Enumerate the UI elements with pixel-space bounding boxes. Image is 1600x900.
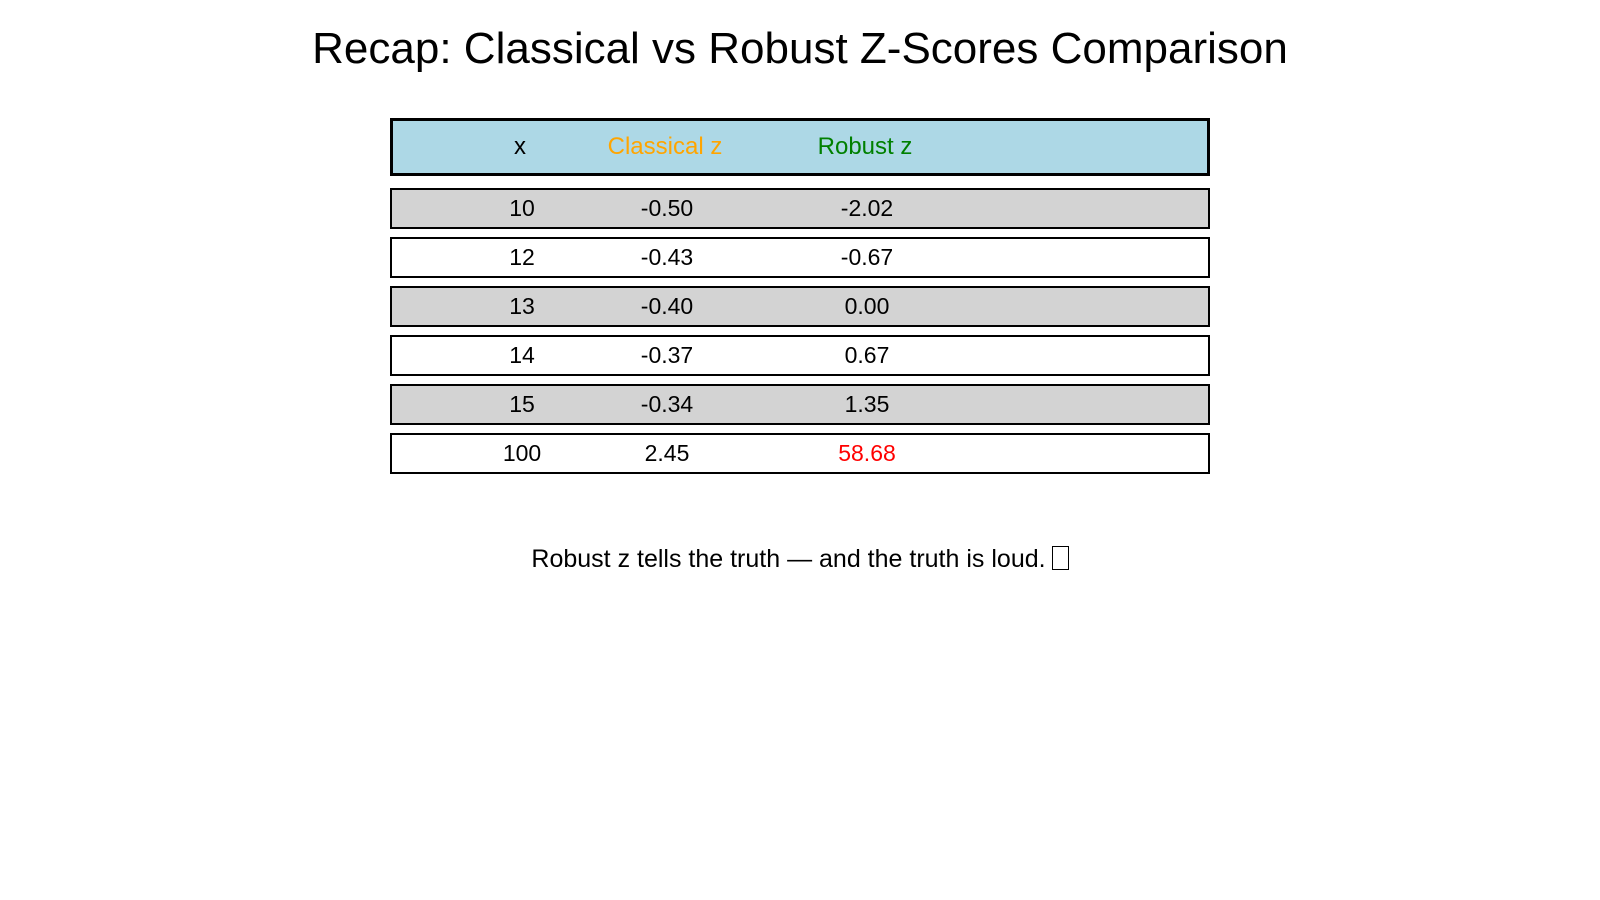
table-row: 15-0.341.35 xyxy=(390,384,1210,425)
cell-robust-z: 0.00 xyxy=(777,288,957,325)
table-row: 14-0.370.67 xyxy=(390,335,1210,376)
cell-classical-z: 2.45 xyxy=(577,435,757,472)
comparison-table: x Classical z Robust z 10-0.50-2.0212-0.… xyxy=(390,118,1210,474)
missing-glyph-icon xyxy=(1052,546,1069,570)
caption-text: Robust z tells the truth — and the truth… xyxy=(0,543,1600,575)
cell-classical-z: -0.40 xyxy=(577,288,757,325)
cell-classical-z: -0.43 xyxy=(577,239,757,276)
cell-robust-z: -2.02 xyxy=(777,190,957,227)
table-row: 12-0.43-0.67 xyxy=(390,237,1210,278)
cell-classical-z: -0.50 xyxy=(577,190,757,227)
table-row: 13-0.400.00 xyxy=(390,286,1210,327)
cell-classical-z: -0.34 xyxy=(577,386,757,423)
caption-sentence: Robust z tells the truth — and the truth… xyxy=(531,545,1045,573)
table-header-row: x Classical z Robust z xyxy=(390,118,1210,176)
table-body: 10-0.50-2.0212-0.43-0.6713-0.400.0014-0.… xyxy=(390,188,1210,474)
cell-robust-z: 0.67 xyxy=(777,337,957,374)
cell-classical-z: -0.37 xyxy=(577,337,757,374)
slide-canvas: Recap: Classical vs Robust Z-Scores Comp… xyxy=(0,0,1600,900)
table-row: 10-0.50-2.02 xyxy=(390,188,1210,229)
column-header-robust-z: Robust z xyxy=(775,121,955,173)
header-body-gap xyxy=(390,176,1210,188)
table-row: 1002.4558.68 xyxy=(390,433,1210,474)
cell-robust-z: 1.35 xyxy=(777,386,957,423)
page-title: Recap: Classical vs Robust Z-Scores Comp… xyxy=(0,22,1600,76)
column-header-classical-z: Classical z xyxy=(575,121,755,173)
cell-robust-z: 58.68 xyxy=(777,435,957,472)
cell-robust-z: -0.67 xyxy=(777,239,957,276)
